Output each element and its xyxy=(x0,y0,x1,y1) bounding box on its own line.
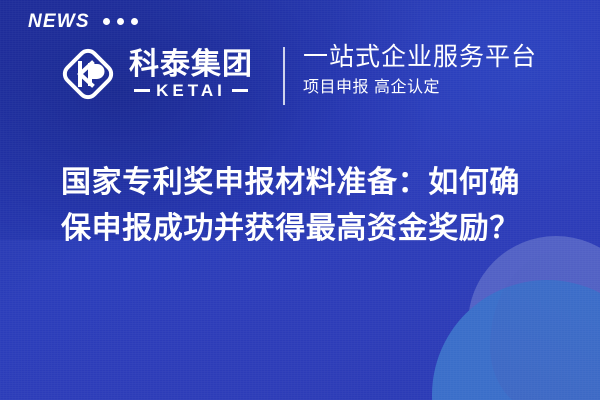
brand-name-en: KETAI xyxy=(156,82,226,99)
brand-name-en-wrap: KETAI xyxy=(129,82,253,99)
ketai-diamond-kp-monogram-icon xyxy=(57,43,119,105)
brand-name-cn: 科泰集团 xyxy=(129,49,253,81)
slogan-block: 一站式企业服务平台 项目申报 高企认定 xyxy=(303,43,537,97)
slogan-sub: 项目申报 高企认定 xyxy=(303,78,537,97)
dot-icon xyxy=(103,18,110,25)
dash-icon-left xyxy=(134,89,150,92)
headline-line-2: 保申报成功并获得最高资金奖励？ xyxy=(61,206,557,252)
news-dots-group xyxy=(103,18,138,25)
brand-lockup: 科泰集团 KETAI xyxy=(57,43,253,105)
dot-icon xyxy=(131,18,138,25)
banner-content: NEWS xyxy=(0,0,600,400)
news-banner: NEWS xyxy=(0,0,600,400)
headline-line-1: 国家专利奖申报材料准备：如何确 xyxy=(61,160,557,206)
brand-wordmark: 科泰集团 KETAI xyxy=(129,49,253,100)
dash-icon-right xyxy=(232,89,248,92)
headline-block: 国家专利奖申报材料准备：如何确 保申报成功并获得最高资金奖励？ xyxy=(61,160,557,251)
dot-icon xyxy=(117,18,124,25)
news-eyebrow: NEWS xyxy=(28,12,138,31)
news-label: NEWS xyxy=(28,12,90,31)
slogan-main: 一站式企业服务平台 xyxy=(303,43,537,72)
brand-slogan-divider xyxy=(283,47,285,105)
